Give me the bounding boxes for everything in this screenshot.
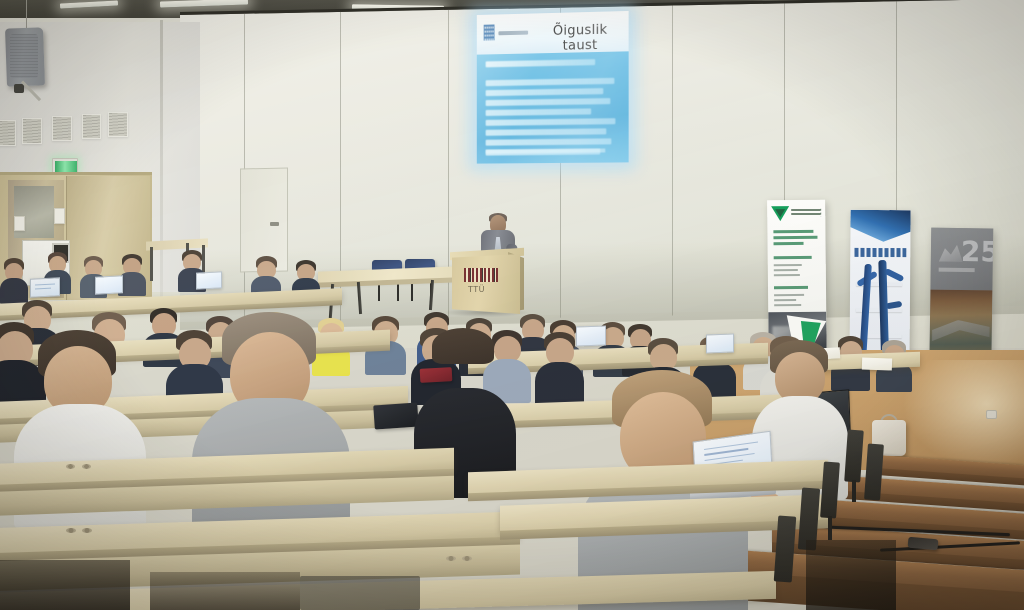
banner-top-wave [850, 210, 910, 246]
desk-cable-grommet [462, 556, 472, 561]
tablet-screen[interactable] [706, 334, 734, 354]
banner-text-line [774, 304, 801, 306]
lecture-hall-photo: Õiguslik taust [0, 0, 1024, 610]
banner-heading [773, 230, 813, 233]
seat-shadow [0, 560, 130, 610]
banner-text-line [774, 294, 804, 296]
seat-post [852, 480, 856, 502]
tablet-screen[interactable] [576, 325, 606, 346]
speaker-bracket [14, 84, 24, 93]
laptop-screen[interactable] [196, 271, 222, 289]
speaker-suspension-wire [26, 0, 27, 30]
laptop-screen[interactable] [95, 275, 123, 294]
desk-cable-grommet [66, 528, 76, 533]
side-table-leg [150, 247, 153, 281]
banner-equipment-arm [884, 268, 905, 282]
seat-back[interactable] [844, 430, 864, 483]
floor-socket [986, 410, 997, 419]
banner-text-line [774, 274, 800, 276]
seat-back[interactable] [300, 576, 420, 610]
door-notice [54, 208, 65, 224]
laptop-content-line [35, 288, 51, 290]
anniversary-number: 25 [961, 238, 994, 267]
banner-subheading [774, 286, 808, 289]
banner-subheading [774, 256, 812, 259]
speaker-grille [10, 34, 38, 78]
banner-heading [773, 236, 817, 239]
door-notice [14, 216, 25, 231]
podium [452, 254, 520, 314]
podium-logo-label: TTÜ [468, 285, 485, 294]
seat-shadow [806, 540, 896, 610]
banner-text-line [774, 299, 796, 301]
acoustic-panel [52, 116, 72, 141]
person-torso [0, 278, 28, 304]
slide-sheen [477, 11, 629, 164]
notebook[interactable] [373, 402, 419, 429]
banner-heading [774, 242, 804, 245]
exit-sign-face [55, 161, 77, 172]
banner-wordmark [939, 268, 975, 273]
green-triangle-inner-icon [775, 209, 785, 217]
door-handle[interactable] [270, 222, 279, 226]
seat-shadow [150, 572, 300, 610]
desk-cable-grommet [82, 464, 91, 469]
laptop-content-line [35, 283, 55, 285]
wall-corner [160, 20, 163, 300]
desk-cable-grommet [66, 464, 75, 469]
projected-slide: Õiguslik taust [477, 11, 629, 164]
ttu-barcode-logo-icon [464, 268, 498, 282]
acoustic-panel [0, 120, 16, 146]
desk-cable-grommet [446, 556, 456, 561]
acoustic-panel [108, 112, 128, 137]
laptop-screen[interactable] [30, 277, 60, 298]
banner-headline [854, 248, 906, 257]
banner-text-line [774, 269, 798, 271]
acoustic-panel [82, 114, 101, 139]
laptop-content-line [704, 441, 758, 450]
banner-text-line [774, 264, 802, 266]
banner-wordmark [791, 209, 821, 217]
seat-post [828, 516, 832, 540]
floor-light-pool [900, 360, 1024, 470]
acoustic-panel [22, 118, 42, 144]
desk-cable-grommet [82, 528, 92, 533]
paper-sheet [862, 357, 892, 370]
exit-sign [52, 158, 78, 173]
